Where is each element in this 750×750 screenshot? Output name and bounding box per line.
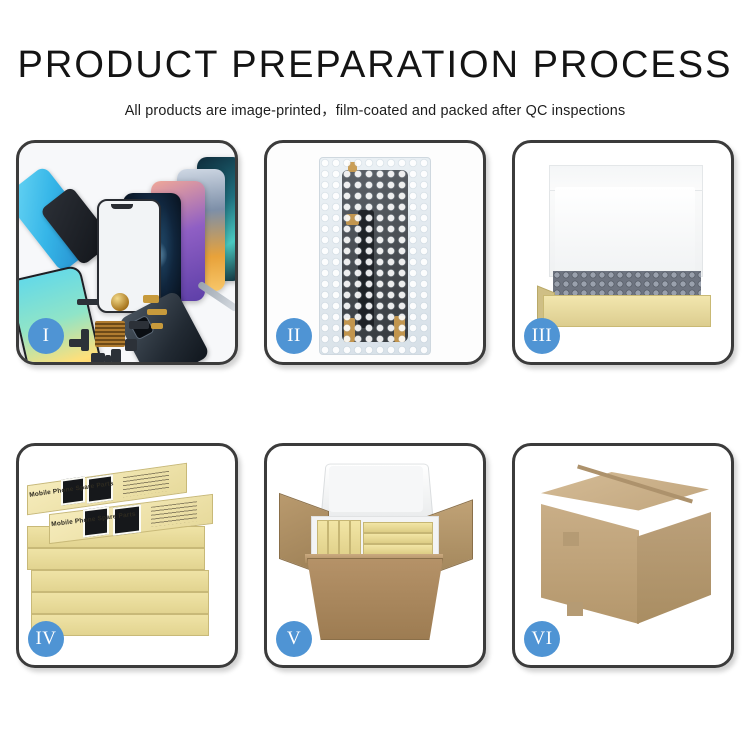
step-panel-1: I xyxy=(16,140,238,365)
step-panel-4: Mobile Phone Spare Parts Mobile Phone Sp… xyxy=(16,443,238,668)
step-panel-5: V xyxy=(264,443,486,668)
step-badge-2: II xyxy=(276,318,312,354)
header: PRODUCT PREPARATION PROCESS All products… xyxy=(0,0,750,120)
process-step-grid: I II xyxy=(16,140,734,692)
step-panel-6: VI xyxy=(512,443,734,668)
step-badge-4: IV xyxy=(28,621,64,657)
page-subtitle: All products are image-printed，film-coat… xyxy=(0,84,750,120)
step-badge-3: III xyxy=(524,318,560,354)
step-panel-2: II xyxy=(264,140,486,365)
product-preparation-infographic: PRODUCT PREPARATION PROCESS All products… xyxy=(0,0,750,750)
step-panel-3: III xyxy=(512,140,734,365)
step-badge-1: I xyxy=(28,318,64,354)
step-badge-5: V xyxy=(276,621,312,657)
page-title: PRODUCT PREPARATION PROCESS xyxy=(0,0,750,84)
step-badge-6: VI xyxy=(524,621,560,657)
